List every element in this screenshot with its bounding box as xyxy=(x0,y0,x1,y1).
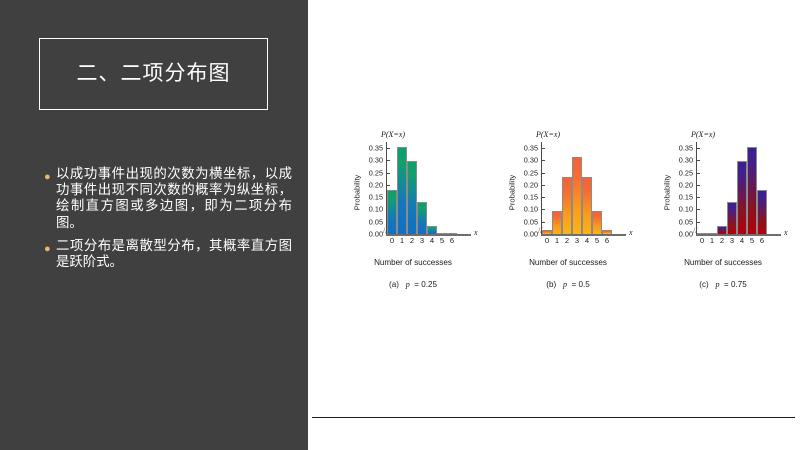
chart-title-a: P(X=x) xyxy=(381,130,405,139)
bar xyxy=(592,211,602,234)
x-tick-label: 6 xyxy=(447,236,457,245)
y-tick-label: 0.35 xyxy=(679,144,693,153)
bar xyxy=(572,157,582,234)
bar-series-a xyxy=(387,142,457,234)
x-tick-label: 1 xyxy=(552,236,562,245)
caption-param-a: p xyxy=(406,280,410,289)
footer-divider xyxy=(312,417,795,418)
caption-param-b: p xyxy=(563,280,567,289)
bar xyxy=(417,202,427,234)
bar xyxy=(387,190,397,234)
y-tick-label: 0.00 xyxy=(524,230,538,239)
bar xyxy=(727,202,737,234)
list-item: ● 二项分布是离散型分布，其概率直方图是跃阶式。 xyxy=(44,238,292,270)
caption-prefix-c: (c) xyxy=(699,280,708,289)
y-axis-label-c: Probability xyxy=(663,158,672,228)
title-box: 二、二项分布图 xyxy=(39,38,268,110)
slide-canvas: 二、二项分布图 ● 以成功事件出现的次数为横坐标，以成功事件出现不同次数的概率为… xyxy=(0,0,800,450)
x-tick-label: 0 xyxy=(387,236,397,245)
bar xyxy=(427,226,437,234)
chart-panel-c: P(X=x) Probability 0.350.300.250.200.150… xyxy=(648,130,798,300)
bar xyxy=(397,147,407,234)
binomial-distribution-figure: P(X=x) Probability 0.350.300.250.200.150… xyxy=(338,130,798,300)
y-tick-label: 0.15 xyxy=(679,193,693,202)
y-tick-label: 0.25 xyxy=(524,168,538,177)
bar-series-c xyxy=(697,142,767,234)
bar-cell xyxy=(582,142,592,234)
bar-cell xyxy=(592,142,602,234)
bar xyxy=(757,190,767,234)
y-tick-label: 0.30 xyxy=(524,156,538,165)
caption-prefix-b: (b) xyxy=(546,280,556,289)
y-tick-label: 0.35 xyxy=(524,144,538,153)
bullet-list: ● 以成功事件出现的次数为横坐标，以成功事件出现不同次数的概率为纵坐标，绘制直方… xyxy=(44,166,292,277)
bar-cell xyxy=(747,142,757,234)
chart-caption-c: (c) p = 0.75 xyxy=(648,280,798,289)
y-tick-label: 0.20 xyxy=(679,180,693,189)
y-tick-label: 0.00 xyxy=(679,230,693,239)
y-tick-label: 0.10 xyxy=(369,205,383,214)
y-axis-ticks-a: 0.350.300.250.200.150.100.050.00 xyxy=(362,142,386,234)
bar-cell xyxy=(552,142,562,234)
x-tick-label: 5 xyxy=(592,236,602,245)
y-tick-label: 0.35 xyxy=(369,144,383,153)
plot-area-b: 0.350.300.250.200.150.100.050.00 // 0123… xyxy=(517,142,635,252)
page-title: 二、二项分布图 xyxy=(77,62,231,85)
bullet-marker-icon: ● xyxy=(44,166,56,183)
plot-area-a: 0.350.300.250.200.150.100.050.00 // 0123… xyxy=(362,142,480,252)
caption-value-a: = 0.25 xyxy=(414,280,437,289)
bar xyxy=(552,211,562,234)
x-tick-label: 2 xyxy=(717,236,727,245)
x-axis-name-b: x xyxy=(629,228,633,237)
bar xyxy=(747,147,757,234)
bar xyxy=(737,161,747,234)
bar xyxy=(542,230,552,234)
chart-caption-b: (b) p = 0.5 xyxy=(493,280,643,289)
bar-cell xyxy=(407,142,417,234)
bar xyxy=(407,161,417,234)
bar-cell xyxy=(602,142,612,234)
y-tick-label: 0.25 xyxy=(369,168,383,177)
bar xyxy=(602,230,612,234)
caption-prefix-a: (a) xyxy=(389,280,399,289)
x-tick-label: 1 xyxy=(707,236,717,245)
list-item: ● 以成功事件出现的次数为横坐标，以成功事件出现不同次数的概率为纵坐标，绘制直方… xyxy=(44,166,292,231)
y-tick-label: 0.05 xyxy=(369,217,383,226)
caption-value-b: = 0.5 xyxy=(571,280,589,289)
bar xyxy=(717,226,727,234)
slide-right-panel: P(X=x) Probability 0.350.300.250.200.150… xyxy=(308,0,800,450)
y-tick-label: 0.15 xyxy=(369,193,383,202)
x-tick-label: 1 xyxy=(397,236,407,245)
x-axis-label-b: Number of successes xyxy=(493,258,643,267)
x-axis-name-c: x xyxy=(784,228,788,237)
x-axis-ticks-b: 0123456 xyxy=(542,236,612,245)
bar-cell xyxy=(727,142,737,234)
caption-value-c: = 0.75 xyxy=(724,280,747,289)
bullet-text: 以成功事件出现的次数为横坐标，以成功事件出现不同次数的概率为纵坐标，绘制直方图或… xyxy=(56,166,292,231)
bar-cell xyxy=(562,142,572,234)
bar xyxy=(697,233,707,234)
y-tick-label: 0.20 xyxy=(524,180,538,189)
slide-left-panel: 二、二项分布图 ● 以成功事件出现的次数为横坐标，以成功事件出现不同次数的概率为… xyxy=(0,0,308,450)
x-axis-ticks-a: 0123456 xyxy=(387,236,457,245)
y-tick-label: 0.15 xyxy=(524,193,538,202)
y-tick-label: 0.20 xyxy=(369,180,383,189)
x-tick-label: 3 xyxy=(572,236,582,245)
x-tick-label: 2 xyxy=(407,236,417,245)
y-tick-label: 0.05 xyxy=(679,217,693,226)
chart-caption-a: (a) p = 0.25 xyxy=(338,280,488,289)
bar-cell xyxy=(427,142,437,234)
bar-cell xyxy=(417,142,427,234)
bar-cell xyxy=(572,142,582,234)
y-tick-label: 0.10 xyxy=(679,205,693,214)
chart-panel-b: P(X=x) Probability 0.350.300.250.200.150… xyxy=(493,130,643,300)
bar-cell xyxy=(397,142,407,234)
bar-cell xyxy=(447,142,457,234)
y-axis-ticks-c: 0.350.300.250.200.150.100.050.00 xyxy=(672,142,696,234)
bar-cell xyxy=(437,142,447,234)
x-axis-label-a: Number of successes xyxy=(338,258,488,267)
x-tick-label: 6 xyxy=(602,236,612,245)
y-axis-label-b: Probability xyxy=(508,158,517,228)
y-tick-label: 0.10 xyxy=(524,205,538,214)
chart-panel-a: P(X=x) Probability 0.350.300.250.200.150… xyxy=(338,130,488,300)
x-tick-label: 2 xyxy=(562,236,572,245)
chart-title-c: P(X=x) xyxy=(691,130,715,139)
x-tick-label: 4 xyxy=(737,236,747,245)
bar-cell xyxy=(717,142,727,234)
x-tick-label: 3 xyxy=(727,236,737,245)
bar-cell xyxy=(707,142,717,234)
x-tick-label: 6 xyxy=(757,236,767,245)
bar-cell xyxy=(697,142,707,234)
caption-param-c: p xyxy=(715,280,719,289)
y-tick-label: 0.05 xyxy=(524,217,538,226)
x-tick-label: 3 xyxy=(417,236,427,245)
bullet-text: 二项分布是离散型分布，其概率直方图是跃阶式。 xyxy=(56,238,292,270)
bar xyxy=(447,233,457,234)
bar xyxy=(582,177,592,234)
bar xyxy=(437,233,447,234)
y-tick-label: 0.30 xyxy=(369,156,383,165)
x-tick-label: 5 xyxy=(747,236,757,245)
y-tick-label: 0.25 xyxy=(679,168,693,177)
y-axis-label-a: Probability xyxy=(353,158,362,228)
bar xyxy=(562,177,572,234)
y-tick-label: 0.00 xyxy=(369,230,383,239)
chart-title-b: P(X=x) xyxy=(536,130,560,139)
x-axis-ticks-c: 0123456 xyxy=(697,236,767,245)
bar-cell xyxy=(737,142,747,234)
bar xyxy=(707,233,717,234)
x-axis-name-a: x xyxy=(474,228,478,237)
x-tick-label: 5 xyxy=(437,236,447,245)
bar-cell xyxy=(387,142,397,234)
x-tick-label: 0 xyxy=(542,236,552,245)
bullet-marker-icon: ● xyxy=(44,238,56,255)
bar-cell xyxy=(542,142,552,234)
bar-cell xyxy=(757,142,767,234)
x-tick-label: 4 xyxy=(427,236,437,245)
plot-area-c: 0.350.300.250.200.150.100.050.00 // 0123… xyxy=(672,142,790,252)
bar-series-b xyxy=(542,142,612,234)
y-tick-label: 0.30 xyxy=(679,156,693,165)
x-tick-label: 0 xyxy=(697,236,707,245)
x-tick-label: 4 xyxy=(582,236,592,245)
y-axis-ticks-b: 0.350.300.250.200.150.100.050.00 xyxy=(517,142,541,234)
x-axis-label-c: Number of successes xyxy=(648,258,798,267)
